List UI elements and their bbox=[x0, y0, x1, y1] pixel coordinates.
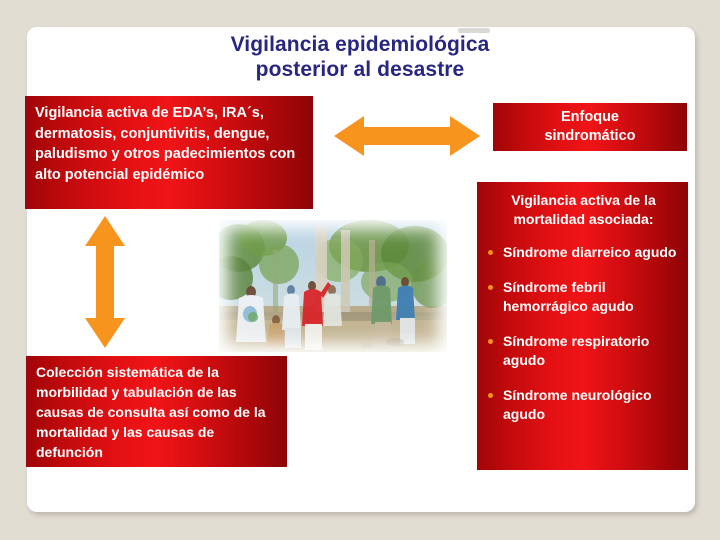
box-enfoque-line-1: Enfoque bbox=[561, 108, 619, 127]
list-item-label: Síndrome febril hemorrágico agudo bbox=[503, 279, 634, 314]
box-vigilancia-activa: Vigilancia activa de EDA’s, IRA´s, derma… bbox=[25, 96, 313, 209]
list-item: Síndrome diarreico agudo bbox=[485, 243, 682, 262]
photo-image bbox=[219, 220, 447, 352]
list-item: Síndrome neurológico agudo bbox=[485, 386, 682, 424]
box-mortalidad: Vigilancia activa de la mortalidad asoci… bbox=[477, 182, 688, 470]
bullet-icon bbox=[488, 393, 493, 398]
list-item-label: Síndrome diarreico agudo bbox=[503, 244, 676, 260]
photo-svg bbox=[219, 220, 447, 352]
bullet-icon bbox=[488, 339, 493, 344]
bullet-icon bbox=[488, 285, 493, 290]
page-title: Vigilancia epidemiológica posterior al d… bbox=[60, 32, 660, 82]
double-headed-vertical-arrow-icon bbox=[83, 216, 127, 348]
slide-root: Vigilancia epidemiológica posterior al d… bbox=[0, 0, 720, 540]
box-coleccion: Colección sistemática de la morbilidad y… bbox=[26, 356, 287, 467]
page-title-line-1: Vigilancia epidemiológica bbox=[60, 32, 660, 57]
box-mortalidad-heading-line-1: Vigilancia activa de la bbox=[489, 191, 678, 210]
page-title-line-2: posterior al desastre bbox=[60, 57, 660, 82]
bullet-icon bbox=[488, 250, 493, 255]
box-mortalidad-heading-line-2: mortalidad asociada: bbox=[489, 210, 678, 229]
list-item-label: Síndrome respiratorio agudo bbox=[503, 333, 649, 368]
box-enfoque-sindromatico: Enfoque sindromático bbox=[493, 103, 687, 151]
double-headed-horizontal-arrow-icon bbox=[334, 114, 480, 158]
list-item: Síndrome respiratorio agudo bbox=[485, 332, 682, 370]
list-item-label: Síndrome neurológico agudo bbox=[503, 387, 652, 422]
box-mortalidad-heading: Vigilancia activa de la mortalidad asoci… bbox=[485, 191, 682, 229]
photo-community-outdoors bbox=[219, 220, 447, 352]
list-item: Síndrome febril hemorrágico agudo bbox=[485, 278, 682, 316]
box-enfoque-line-2: sindromático bbox=[544, 127, 635, 146]
syndrome-list: Síndrome diarreico agudo Síndrome febril… bbox=[485, 243, 682, 424]
